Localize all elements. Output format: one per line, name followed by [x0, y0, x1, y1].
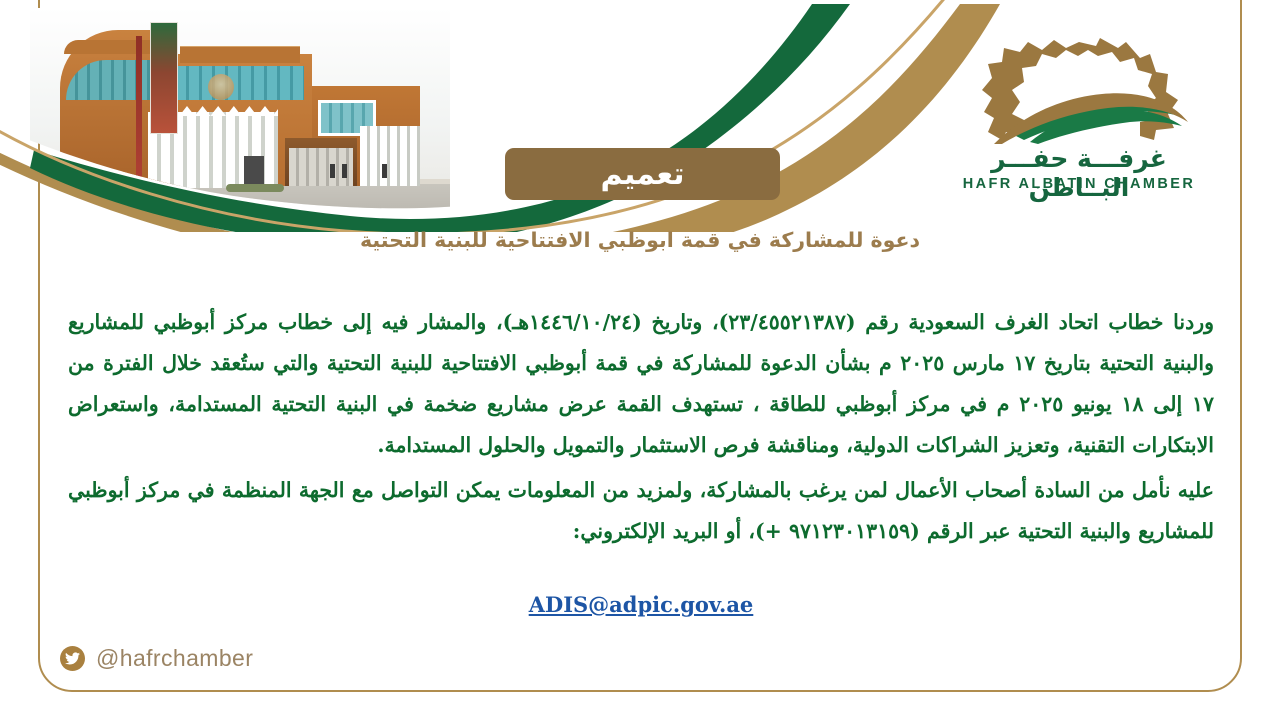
circular-body: وردنا خطاب اتحاد الغرف السعودية رقم (٢٣/… — [68, 302, 1214, 556]
twitter-icon[interactable] — [60, 646, 85, 671]
body-paragraph-2: عليه نأمل من السادة أصحاب الأعمال لمن ير… — [68, 470, 1214, 552]
circular-subtitle: دعوة للمشاركة في قمة ابوظبي الافتتاحية ل… — [0, 228, 1280, 252]
chamber-logo-mark — [950, 36, 1208, 144]
chamber-logo: غرفـــة حفـــر البــاطن HAFR ALBATIN CHA… — [950, 36, 1208, 201]
circular-title-text: تعميم — [600, 157, 684, 192]
header-swoosh-decoration — [0, 0, 1010, 232]
logo-name-arabic: غرفـــة حفـــر البــاطن — [950, 144, 1208, 202]
header-artwork — [0, 0, 1010, 232]
logo-name-english: HAFR ALBATIN CHAMBER — [950, 176, 1208, 192]
social-handle-text[interactable]: @hafrchamber — [96, 645, 253, 672]
body-paragraph-1: وردنا خطاب اتحاد الغرف السعودية رقم (٢٣/… — [68, 302, 1214, 466]
circular-title-badge: تعميم — [505, 148, 780, 200]
twitter-bird-glyph — [65, 652, 80, 665]
circular-page: غرفـــة حفـــر البــاطن HAFR ALBATIN CHA… — [0, 0, 1280, 720]
footer-social[interactable]: @hafrchamber — [60, 645, 253, 672]
contact-email-link[interactable]: ADIS@adpic.gov.ae — [529, 592, 754, 617]
contact-email-line: ADIS@adpic.gov.ae — [68, 592, 1214, 617]
